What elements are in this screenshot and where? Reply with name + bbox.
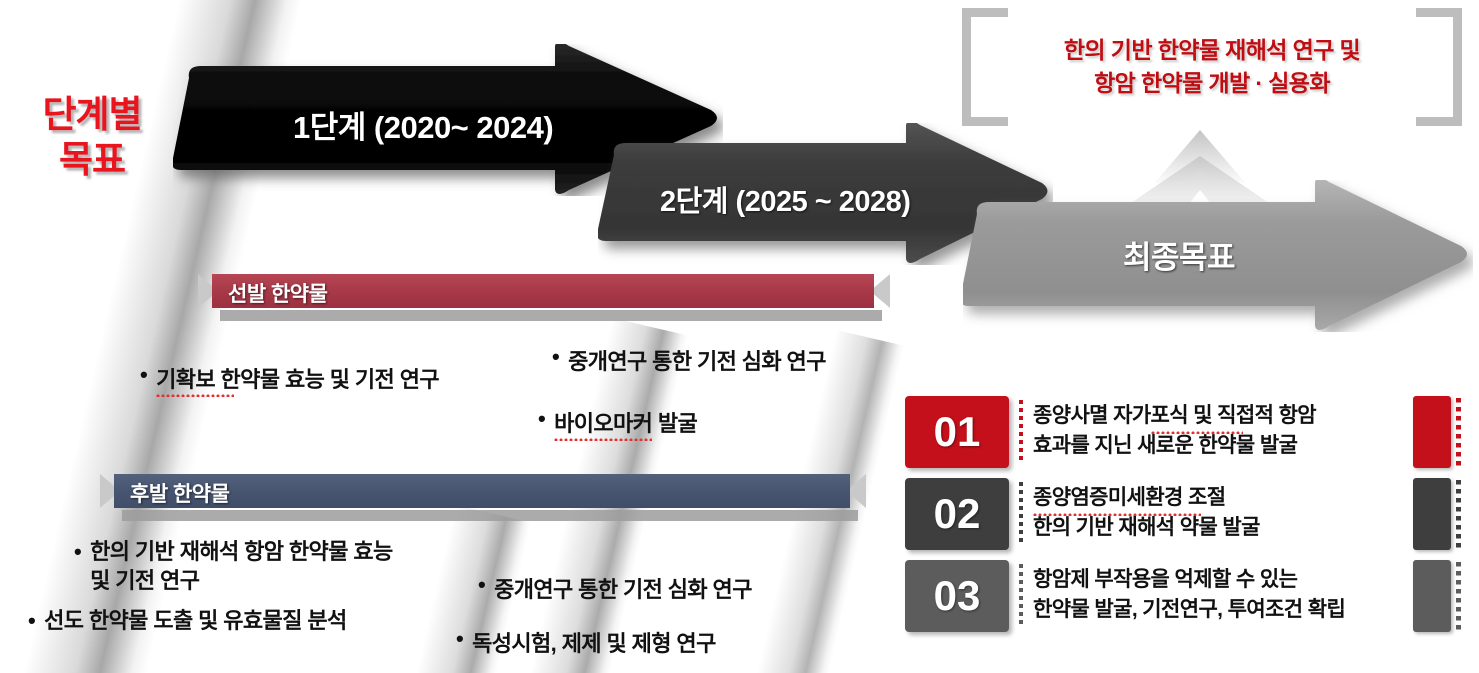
spellcheck-underline	[1151, 430, 1243, 434]
bracket-left-vertical	[962, 8, 971, 126]
ribbon-red-label: 선발 한약물	[228, 278, 327, 308]
final-goal-line1: 한의 기반 한약물 재해석 연구 및	[996, 34, 1428, 67]
bullet-text: 선도 한약물 도출 및 유효물질 분석	[44, 608, 347, 633]
bracket-right-top	[1416, 8, 1462, 17]
bullets-late-phase1: • 한의 기반 재해석 항암 한약물 효능 및 기전 연구 • 선도 한약물 도…	[28, 538, 393, 642]
goal-text-03-line2: 한약물 발굴, 기전연구, 투여조건 확립	[1033, 598, 1345, 621]
numbered-goal-item-02: 02 종양염증미세환경 조절 한의 기반 재해석 약물 발굴	[905, 478, 1467, 550]
goal-enddots-01	[1456, 398, 1461, 466]
goal-endbar-03	[1413, 560, 1451, 632]
bullet-text: 중개연구 통한 기전 심화 연구	[494, 577, 752, 602]
spellcheck-underline	[554, 437, 652, 441]
bullet-icon: •	[456, 626, 463, 658]
numbered-goal-list: 01 종양사멸 자가포식 및 직접적 항암 효과를 지닌 새로운 한약물 발굴 …	[905, 396, 1467, 642]
goal-endbar-02	[1413, 478, 1451, 550]
list-item: • 선도 한약물 도출 및 유효물질 분석	[28, 607, 393, 636]
phase-arrow-2-label: 2단계 (2025 ~ 2028)	[660, 178, 910, 220]
list-item: • 한의 기반 재해석 항암 한약물 효능 및 기전 연구	[74, 538, 393, 595]
bullet-icon: •	[74, 538, 81, 595]
bullet-icon: •	[140, 362, 147, 394]
goal-divider-dots-01	[1019, 400, 1023, 464]
section-title-line2: 목표	[8, 137, 176, 182]
section-title: 단계별 목표	[8, 92, 176, 182]
list-item: • 중개연구 통한 기전 심화 연구	[478, 572, 752, 604]
bullets-late-phase2: • 중개연구 통한 기전 심화 연구 • 독성시험, 제제 및 제형 연구	[456, 572, 752, 673]
phase-arrow-3-label: 최종목표	[1123, 232, 1235, 277]
final-goal-text: 한의 기반 한약물 재해석 연구 및 항암 한약물 개발 · 실용화	[996, 34, 1428, 99]
bullet-text: 중개연구 통한 기전 심화 연구	[568, 349, 826, 374]
list-item: • 중개연구 통한 기전 심화 연구	[552, 344, 826, 376]
list-item: • 바이오마커 발굴	[538, 406, 826, 438]
numbered-goal-item-03: 03 항암제 부작용을 억제할 수 있는 한약물 발굴, 기전연구, 투여조건 …	[905, 560, 1467, 632]
goal-text-02: 종양염증미세환경 조절 한의 기반 재해석 약물 발굴	[1033, 483, 1381, 543]
bullets-early-phase1: • 기확보 한약물 효능 및 기전 연구	[140, 362, 439, 400]
goal-number-badge-03: 03	[905, 560, 1009, 632]
goal-text-03-line1: 항암제 부작용을 억제할 수 있는	[1033, 568, 1297, 591]
goal-divider-dots-03	[1019, 564, 1023, 628]
bullet-text: 바이오마커 발굴	[554, 411, 697, 436]
final-goal-box: 한의 기반 한약물 재해석 연구 및 항암 한약물 개발 · 실용화	[962, 8, 1462, 126]
goal-number-badge-02: 02	[905, 478, 1009, 550]
roadmap-diagram: 단계별 목표 한의 기반 한약물 재해석 연구 및 항암 한약물 개발 · 실용…	[0, 0, 1479, 673]
spellcheck-underline	[1033, 512, 1201, 516]
goal-enddots-03	[1456, 562, 1461, 630]
bullet-icon: •	[552, 344, 559, 376]
section-title-line1: 단계별	[8, 92, 176, 137]
goal-number-badge-01: 01	[905, 396, 1009, 468]
bullet-icon: •	[478, 572, 485, 604]
list-item: • 독성시험, 제제 및 제형 연구	[456, 626, 752, 658]
bullet-icon: •	[538, 406, 545, 438]
bracket-left-top	[962, 8, 1008, 17]
ribbon-early-herbal-medicine: 선발 한약물	[198, 274, 890, 308]
bullet-text-line1: 한의 기반 재해석 항암 한약물 효능	[90, 539, 393, 564]
phase-arrow-1-label: 1단계 (2020~ 2024)	[293, 102, 553, 147]
goal-enddots-02	[1456, 480, 1461, 548]
goal-text-02-line2: 한의 기반 재해석 약물 발굴	[1033, 516, 1260, 539]
final-goal-line2: 항암 한약물 개발 · 실용화	[996, 67, 1428, 100]
goal-text-02-line1: 종양염증미세환경 조절	[1033, 486, 1225, 509]
bracket-right-vertical	[1453, 8, 1462, 126]
goal-endbar-01	[1413, 396, 1451, 468]
ribbon-red-shadow	[220, 310, 882, 321]
bullet-text: 기확보 한약물 효능 및 기전 연구	[156, 367, 439, 392]
goal-text-01-line1: 종양사멸 자가포식 및 직접적 항암	[1033, 404, 1316, 427]
phase-arrow-3: 최종목표	[963, 180, 1473, 332]
list-item: • 기확보 한약물 효능 및 기전 연구	[140, 362, 439, 394]
bullet-icon: •	[28, 607, 35, 636]
numbered-goal-item-01: 01 종양사멸 자가포식 및 직접적 항암 효과를 지닌 새로운 한약물 발굴	[905, 396, 1467, 468]
goal-text-01: 종양사멸 자가포식 및 직접적 항암 효과를 지닌 새로운 한약물 발굴	[1033, 401, 1381, 461]
goal-divider-dots-02	[1019, 482, 1023, 546]
spellcheck-underline	[156, 393, 234, 397]
goal-text-03: 항암제 부작용을 억제할 수 있는 한약물 발굴, 기전연구, 투여조건 확립	[1033, 565, 1381, 625]
bullet-text: 독성시험, 제제 및 제형 연구	[472, 631, 716, 656]
ribbon-late-herbal-medicine: 후발 한약물	[100, 474, 866, 508]
bracket-right-bottom	[1416, 117, 1462, 126]
bullets-early-phase2: • 중개연구 통한 기전 심화 연구 • 바이오마커 발굴	[552, 344, 826, 468]
bullet-text-line2: 및 기전 연구	[90, 568, 199, 593]
ribbon-blue-shadow	[122, 510, 858, 521]
goal-text-01-line2: 효과를 지닌 새로운 한약물 발굴	[1033, 434, 1297, 457]
ribbon-blue-label: 후발 한약물	[130, 478, 229, 508]
